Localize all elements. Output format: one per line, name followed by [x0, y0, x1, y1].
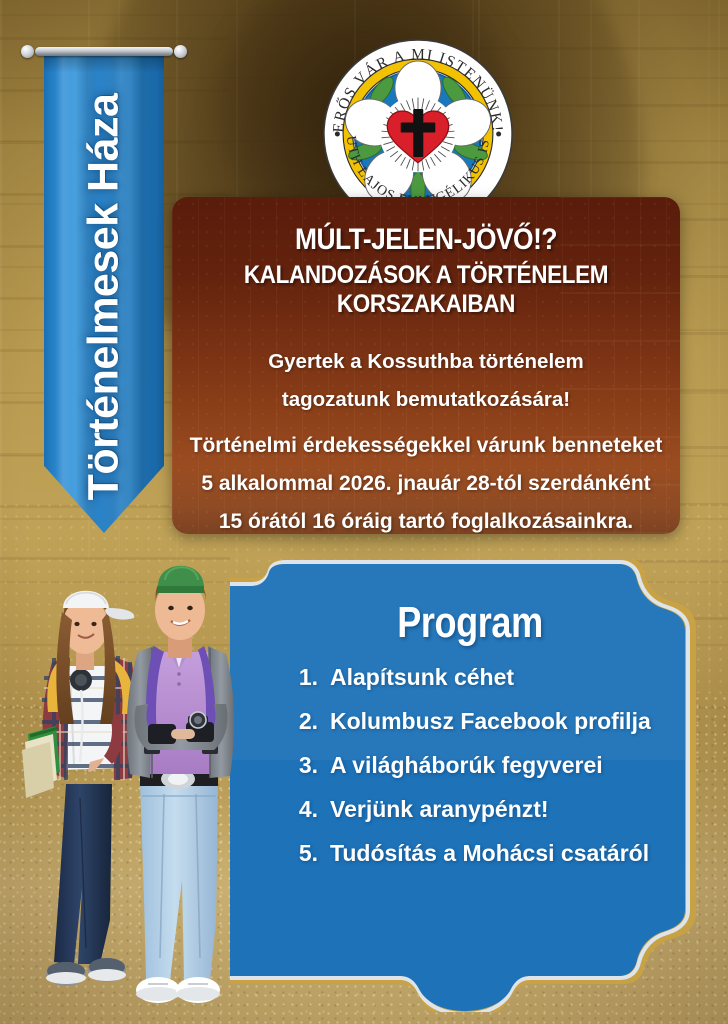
banner-rod-icon — [35, 47, 173, 56]
green-beanie-icon — [158, 566, 204, 593]
poster-root: Történelmesek Háza — [0, 0, 728, 1024]
banner-title: Történelmesek Háza — [80, 94, 129, 501]
info-panel: MÚLT-JELEN-JÖVŐ!? KALANDOZÁSOK A TÖRTÉNE… — [172, 197, 680, 534]
intro-line-2: tagozatunk bemutatkozására! — [188, 381, 664, 419]
list-item-label: Alapítsunk céhet — [330, 664, 514, 691]
vertical-banner: Történelmesek Háza — [44, 47, 164, 547]
details-paragraph: Történelmi érdekességekkel várunk bennet… — [188, 427, 664, 534]
program-list: 1. Alapítsunk céhet 2. Kolumbusz Faceboo… — [266, 664, 674, 867]
list-item-number: 2. — [294, 708, 318, 735]
list-item: 1. Alapítsunk céhet — [294, 664, 674, 691]
intro-paragraph: Gyertek a Kossuthba történelem tagozatun… — [188, 343, 664, 419]
program-panel: Program 1. Alapítsunk céhet 2. Kolumbusz… — [230, 560, 700, 1012]
list-item-number: 5. — [294, 840, 318, 867]
list-item: 2. Kolumbusz Facebook profilja — [294, 708, 674, 735]
list-item-number: 4. — [294, 796, 318, 823]
details-line-2: 5 alkalommal 2026. jnauár 28-tól szerdán… — [188, 465, 664, 503]
banner-rod-knob-right — [174, 45, 187, 58]
list-item: 5. Tudósítás a Mohácsi csatáról — [294, 840, 674, 867]
poster-title-line2: KALANDOZÁSOK A TÖRTÉNELEM KORSZAKAIBAN — [212, 261, 640, 319]
list-item-label: A világháborúk fegyverei — [330, 752, 603, 779]
poster-title-line1: MÚLT-JELEN-JÖVŐ!? — [217, 223, 636, 257]
list-item-number: 1. — [294, 664, 318, 691]
list-item-number: 3. — [294, 752, 318, 779]
banner-top-shadow — [44, 53, 164, 73]
students-illustration — [8, 528, 276, 1024]
girl-student — [22, 591, 140, 986]
list-item: 3. A világháborúk fegyverei — [294, 752, 674, 779]
details-line-1: Történelmi érdekességekkel várunk bennet… — [188, 427, 664, 465]
banner-rod-knob-left — [21, 45, 34, 58]
boy-student — [127, 566, 234, 1003]
list-item-label: Tudósítás a Mohácsi csatáról — [330, 840, 649, 867]
list-item-label: Verjünk aranypénzt! — [330, 796, 549, 823]
list-item: 4. Verjünk aranypénzt! — [294, 796, 674, 823]
green-books-icon — [22, 726, 60, 798]
intro-line-1: Gyertek a Kossuthba történelem — [188, 343, 664, 381]
program-heading: Program — [303, 598, 638, 648]
students-photo — [8, 528, 276, 1024]
list-item-label: Kolumbusz Facebook profilja — [330, 708, 651, 735]
